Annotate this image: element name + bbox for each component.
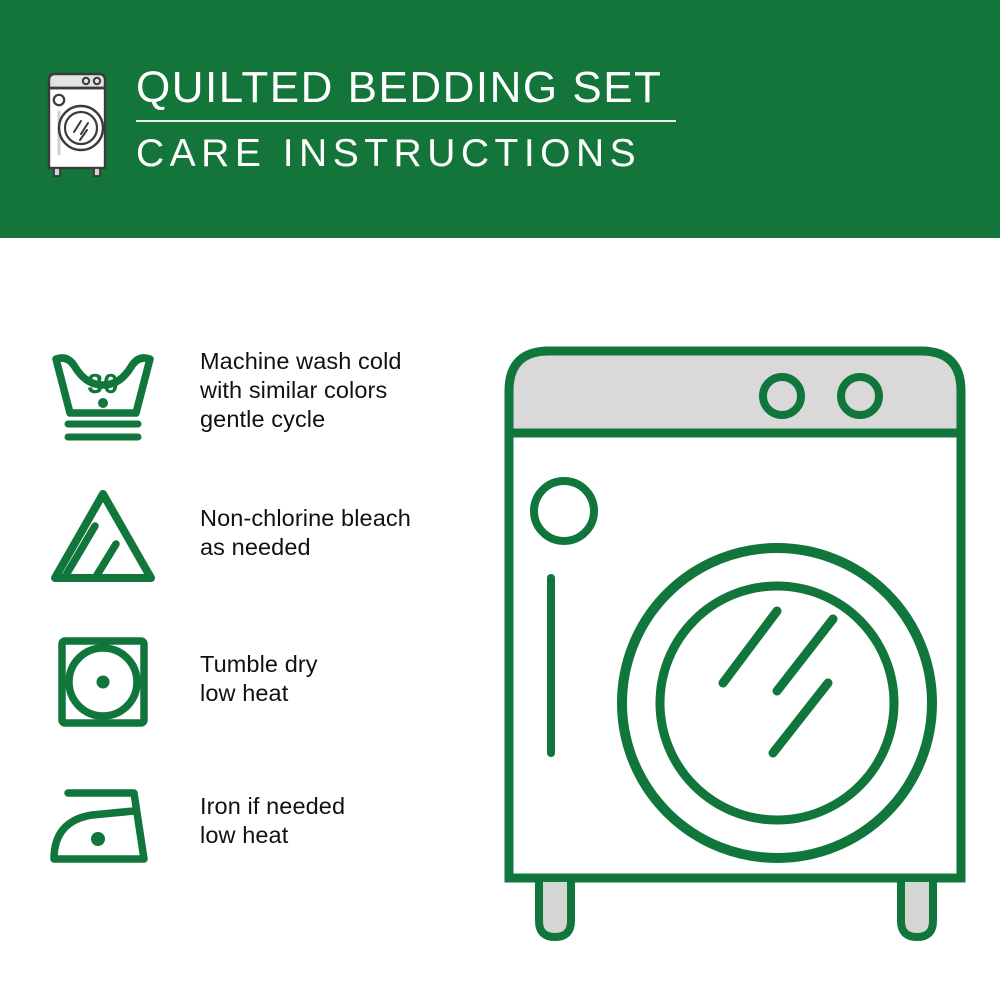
care-instructions-infographic: QUILTED BEDDING SET CARE INSTRUCTIONS 30	[0, 0, 1000, 1000]
page-title: QUILTED BEDDING SET	[136, 64, 682, 112]
body-area: 30 Machine wash cold with similar colors…	[0, 238, 1000, 1000]
care-instruction-list: 30 Machine wash cold with similar colors…	[48, 333, 478, 913]
title-divider	[136, 120, 676, 122]
care-text-line: Iron if needed	[200, 792, 478, 821]
wash-temperature-label: 30	[87, 368, 118, 399]
care-text-line: low heat	[200, 679, 478, 708]
care-item-wash: 30 Machine wash cold with similar colors…	[48, 333, 478, 478]
care-item-text: Machine wash cold with similar colors ge…	[168, 333, 478, 434]
care-text-line: Non-chlorine bleach	[200, 504, 478, 533]
control-panel	[509, 351, 961, 433]
washing-machine-illustration	[495, 333, 975, 943]
care-item-text: Tumble dry low heat	[168, 623, 478, 708]
iron-icon	[48, 768, 168, 878]
care-item-tumble-dry: Tumble dry low heat	[48, 623, 478, 768]
page-subtitle: CARE INSTRUCTIONS	[136, 132, 682, 176]
washing-machine-icon	[44, 70, 114, 182]
header-text-block: QUILTED BEDDING SET CARE INSTRUCTIONS	[136, 64, 682, 176]
care-text-line: with similar colors	[200, 376, 478, 405]
leg-left	[539, 878, 571, 937]
header-content: QUILTED BEDDING SET CARE INSTRUCTIONS	[44, 64, 682, 182]
care-item-bleach: Non-chlorine bleach as needed	[48, 478, 478, 623]
tumble-dry-icon	[48, 623, 168, 733]
care-text-line: Tumble dry	[200, 650, 478, 679]
care-item-text: Iron if needed low heat	[168, 768, 478, 850]
care-item-text: Non-chlorine bleach as needed	[168, 478, 478, 562]
header-banner: QUILTED BEDDING SET CARE INSTRUCTIONS	[0, 0, 1000, 238]
leg-right	[901, 878, 933, 937]
care-text-line: as needed	[200, 533, 478, 562]
wash-tub-icon: 30	[48, 333, 168, 443]
care-text-line: Machine wash cold	[200, 347, 478, 376]
care-text-line: gentle cycle	[200, 405, 478, 434]
bleach-triangle-icon	[48, 478, 168, 588]
care-item-iron: Iron if needed low heat	[48, 768, 478, 913]
care-text-line: low heat	[200, 821, 478, 850]
